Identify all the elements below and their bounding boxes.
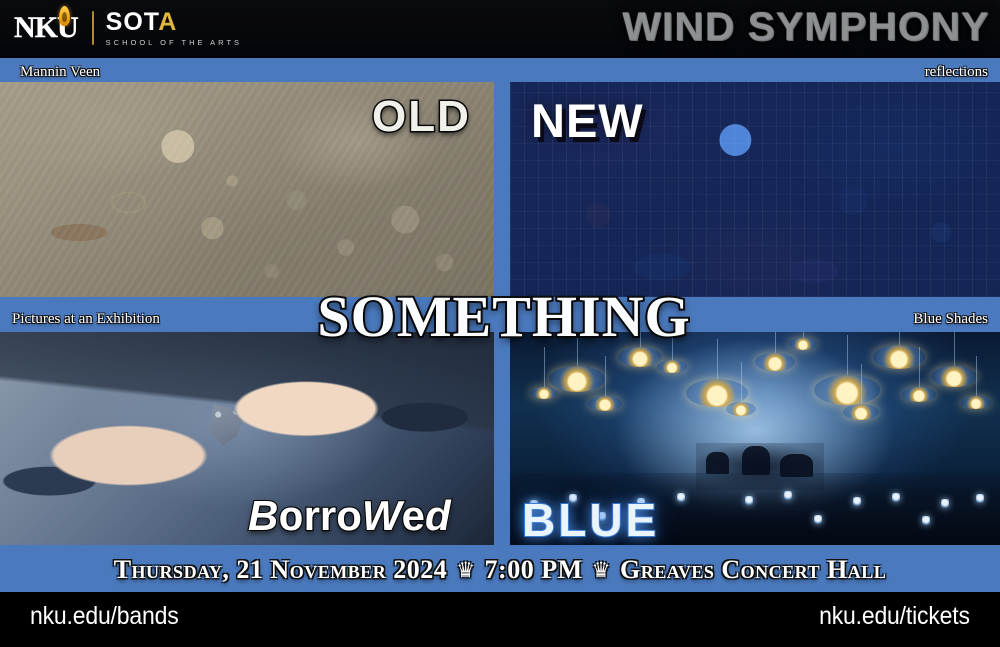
nku-wordmark: NKU <box>14 13 78 43</box>
hanging-lamp-icon <box>588 396 622 411</box>
word-old: OLD <box>372 92 471 142</box>
word-borrowed-part-1: B <box>248 492 278 539</box>
hanging-lamp-icon <box>530 387 558 399</box>
crown-icon: ♛ <box>592 558 611 582</box>
hanging-lamp-icon <box>618 347 662 367</box>
hanging-lamp-icon <box>657 360 687 373</box>
poster-footer: nku.edu/bands nku.edu/tickets <box>0 592 1000 647</box>
event-day: Thursday, <box>114 555 230 584</box>
hanging-lamp-icon <box>789 338 817 350</box>
piece-label-new: reflections <box>925 60 988 84</box>
table-candle-icon <box>677 493 685 502</box>
hanging-lamp-icon <box>726 402 756 416</box>
table-candle-icon <box>745 496 753 505</box>
nku-sota-logo: NKU SOTA SCHOOL OF THE ARTS <box>14 6 242 50</box>
word-borrowed: BorroWed <box>248 492 451 543</box>
word-borrowed-part-3: rro <box>304 492 362 539</box>
hanging-lamp-icon <box>549 366 605 392</box>
hanging-lamp-icon <box>755 353 795 371</box>
hanging-lamp-icon <box>873 345 925 369</box>
sota-accent-letter: A <box>158 8 177 36</box>
piece-label-borrowed: Pictures at an Exhibition <box>12 307 160 331</box>
piece-label-blue: Blue Shades <box>913 307 988 331</box>
piece-label-old: Mannin Veen <box>20 60 100 84</box>
word-blue: BLUE <box>522 493 659 547</box>
tickets-url[interactable]: nku.edu/tickets <box>819 602 970 631</box>
table-candle-icon <box>922 516 930 525</box>
table-candle-icon <box>976 494 984 503</box>
word-borrowed-part-5: e <box>402 492 425 539</box>
hanging-lamp-icon <box>931 366 977 387</box>
ensemble-title: WIND SYMPHONY <box>623 2 990 52</box>
sota-subtitle: SCHOOL OF THE ARTS <box>106 38 242 47</box>
word-borrowed-part-2: o <box>278 495 303 543</box>
musician-silhouette <box>706 452 729 474</box>
event-details-bar: Thursday, 21 November 2024♛7:00 PM♛Greav… <box>0 548 1000 592</box>
table-candle-icon <box>784 491 792 500</box>
headline-something: SOMETHING <box>254 288 754 346</box>
table-candle-icon <box>892 493 900 502</box>
event-details-text: Thursday, 21 November 2024♛7:00 PM♛Greav… <box>114 555 887 585</box>
table-candle-icon <box>814 515 822 524</box>
event-venue: Greaves Concert Hall <box>620 555 886 584</box>
word-borrowed-part-6: d <box>425 492 451 539</box>
flame-icon <box>59 6 70 26</box>
hanging-lamp-icon <box>843 404 879 420</box>
table-candle-icon <box>853 497 861 506</box>
hanging-lamp-icon <box>814 375 880 405</box>
event-time: 7:00 PM <box>485 555 583 584</box>
hanging-lamp-icon <box>902 387 936 402</box>
word-borrowed-part-4: W <box>362 492 402 539</box>
poster-header: NKU SOTA SCHOOL OF THE ARTS WIND SYMPHON… <box>0 0 1000 58</box>
hanging-lamp-icon <box>961 396 991 409</box>
sota-block: SOTA SCHOOL OF THE ARTS <box>106 10 242 47</box>
event-date: 21 November <box>236 555 386 584</box>
musician-silhouette <box>742 446 770 475</box>
word-new: NEW <box>531 93 644 148</box>
logo-divider <box>92 11 94 45</box>
event-year: 2024 <box>393 555 447 584</box>
sota-wordmark: SOTA <box>106 10 242 35</box>
bands-url[interactable]: nku.edu/bands <box>30 602 179 631</box>
sota-letters: SOT <box>106 8 159 36</box>
crown-icon: ♛ <box>456 558 475 582</box>
table-candle-icon <box>941 499 949 508</box>
concert-poster: NKU SOTA SCHOOL OF THE ARTS WIND SYMPHON… <box>0 0 1000 647</box>
